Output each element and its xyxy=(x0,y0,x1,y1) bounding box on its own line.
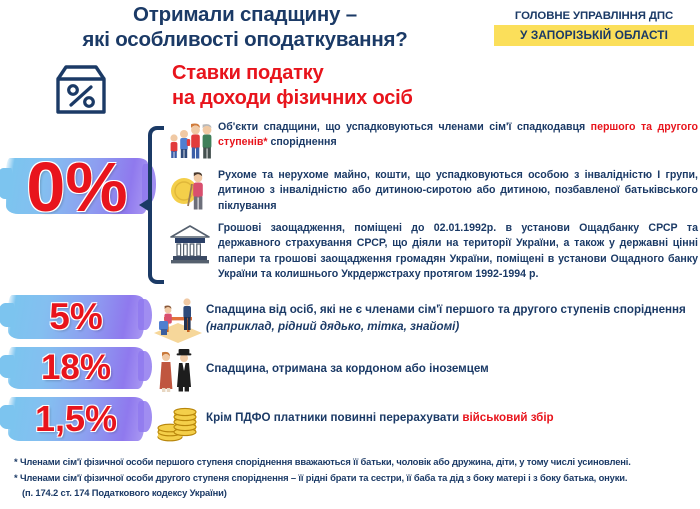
bank-building-icon xyxy=(166,221,214,267)
page-header: Отримали спадщину – які особливості опод… xyxy=(0,0,700,58)
text-part-before: Спадщина, отримана за кордоном або інозе… xyxy=(206,362,489,375)
rate-row-5: 5% Спадщина від осіб, які не є членами с… xyxy=(0,293,700,347)
footnote-2: * Членами сім'ї фізичної особи другого с… xyxy=(14,470,694,486)
subtitle-text: Ставки податку на доходи фізичних осіб xyxy=(172,61,413,111)
organization-block: ГОЛОВНЕ УПРАВЛІННЯ ДПС У ЗАПОРІЗЬКІЙ ОБЛ… xyxy=(494,10,694,46)
rate-value: 0% xyxy=(26,148,127,226)
list-item: Грошові заощадження, поміщені до 02.01.1… xyxy=(166,221,700,291)
percent-box-icon xyxy=(50,63,112,115)
list-item-text: Об'єкти спадщини, що успадковуються член… xyxy=(218,120,700,151)
zero-rate-group: 0% xyxy=(0,118,700,293)
text-part-before: Рухоме та нерухоме майно, кошти, що успа… xyxy=(218,169,698,212)
subtitle-line2: на доходи фізичних осіб xyxy=(172,86,413,111)
list-item: Рухоме та нерухоме майно, кошти, що успа… xyxy=(166,168,700,221)
organization-region-badge: У ЗАПОРІЗЬКІЙ ОБЛАСТІ xyxy=(494,25,694,46)
zero-rate-items: Об'єкти спадщини, що успадковуються член… xyxy=(166,118,700,291)
rate-value: 18% xyxy=(41,348,111,387)
footnote-reference: (п. 174.2 ст. 174 Податкового кодексу Ук… xyxy=(14,485,694,501)
page-title-line2: які особливості оподаткування? xyxy=(0,27,490,52)
list-item: Об'єкти спадщини, що успадковуються член… xyxy=(166,118,700,168)
text-part-before: Грошові заощадження, поміщені до 02.01.1… xyxy=(218,222,698,280)
footnote-1: * Членами сім'ї фізичної особи першого с… xyxy=(14,454,694,470)
page-title: Отримали спадщину – які особливості опод… xyxy=(0,2,490,52)
subtitle-row: Ставки податку на доходи фізичних осіб xyxy=(0,60,700,118)
rate-value: 5% xyxy=(49,296,102,337)
grouping-bracket-icon xyxy=(148,126,164,284)
rate-description: Крім ПДФО платники повинні перерахувати … xyxy=(206,409,698,426)
family-group-icon xyxy=(166,118,214,164)
rate-badge-5: 5% xyxy=(8,295,144,339)
rate-row-15: 1,5% Крім ПДФО платники повинні перераху… xyxy=(0,395,700,447)
person-with-coins-icon xyxy=(166,168,214,214)
text-part-after: споріднення xyxy=(268,136,337,148)
rate-row-18: 18% Спадщина, отримана за кордоном або і… xyxy=(0,347,700,395)
text-part-highlight: військовий збір xyxy=(462,411,553,424)
rate-badge-zero: 0% xyxy=(6,152,148,222)
rate-description: Спадщина, отримана за кордоном або інозе… xyxy=(206,360,698,377)
rate-description: Спадщина від осіб, які не є членами сім'… xyxy=(206,301,698,335)
page-title-line1: Отримали спадщину – xyxy=(133,3,357,26)
foreign-couple-icon xyxy=(148,347,208,397)
list-item-text: Грошові заощадження, поміщені до 02.01.1… xyxy=(218,221,700,283)
organization-name: ГОЛОВНЕ УПРАВЛІННЯ ДПС xyxy=(494,10,694,22)
rate-badge-15: 1,5% xyxy=(8,397,144,441)
text-part-before: Об'єкти спадщини, що успадковуються член… xyxy=(218,121,591,133)
subtitle-line1: Ставки податку xyxy=(172,62,324,84)
rate-value: 1,5% xyxy=(35,398,117,439)
rate-badge-18: 18% xyxy=(8,347,144,389)
office-desk-people-icon xyxy=(148,293,208,343)
text-part-before: Спадщина від осіб, які не є членами сім'… xyxy=(206,303,686,316)
list-item-text: Рухоме та нерухоме майно, кошти, що успа… xyxy=(218,168,700,214)
text-part-italic: (наприклад, рідний дядько, тітка, знайом… xyxy=(206,320,459,333)
text-part-before: Крім ПДФО платники повинні перерахувати xyxy=(206,411,462,424)
footnotes: * Членами сім'ї фізичної особи першого с… xyxy=(14,454,694,501)
gold-coins-stack-icon xyxy=(148,395,208,445)
